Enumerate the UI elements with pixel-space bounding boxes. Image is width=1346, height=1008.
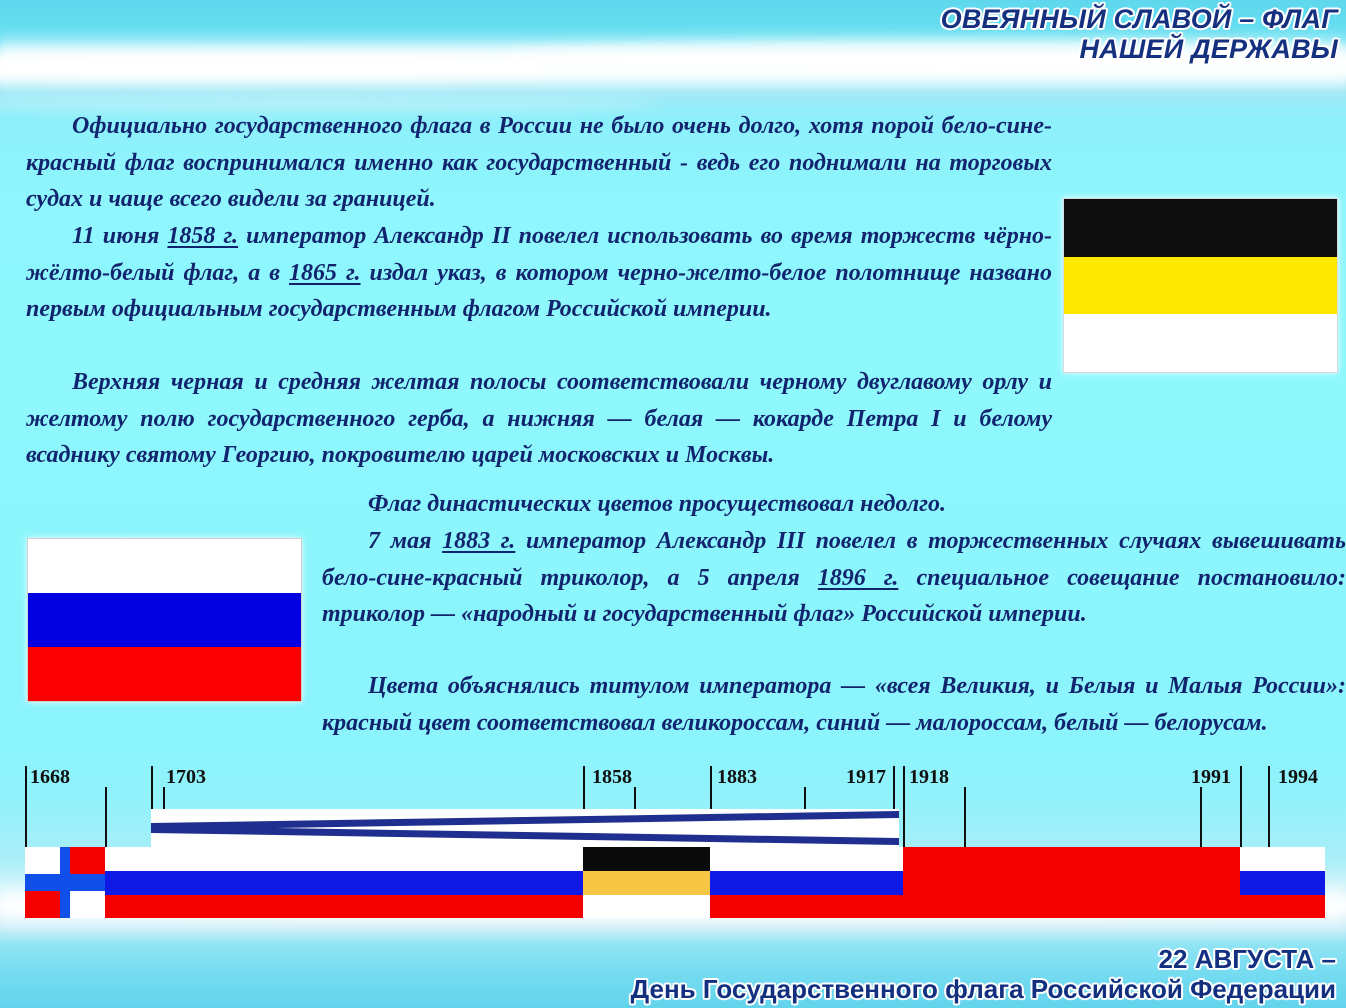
cloud-wisp xyxy=(0,54,560,80)
title-line-2: НАШЕЙ ДЕРЖАВЫ xyxy=(698,34,1338,64)
paragraph-6: Цвета объяснялись титулом императора — «… xyxy=(322,668,1346,741)
year-1883: 1883 г. xyxy=(442,528,515,554)
segment-1883-tricolor xyxy=(710,847,903,918)
st-andrews-ensign-band xyxy=(151,809,899,847)
title-line-1: ОВЕЯННЫЙ СЛАВОЙ – ФЛАГ xyxy=(698,4,1338,34)
tricolor-stripe-red xyxy=(28,647,301,701)
tricolor-flag-image xyxy=(27,538,302,702)
tricolor-stripe-white xyxy=(28,539,301,593)
footer-line-2: День Государственного флага Российской Ф… xyxy=(436,974,1336,1004)
p2-text-a: 11 июня xyxy=(72,223,167,249)
segment-1858-imperial xyxy=(583,847,710,918)
imperial-flag-image xyxy=(1063,198,1338,373)
segment-1991-tricolor xyxy=(1240,847,1325,918)
p5-text-a: 7 мая xyxy=(368,528,442,554)
imperial-stripe-white xyxy=(1064,314,1337,372)
year-1896: 1896 г. xyxy=(818,565,899,591)
footer-line-1: 22 АВГУСТА – xyxy=(436,944,1336,974)
title-banner: ОВЕЯННЫЙ СЛАВОЙ – ФЛАГ НАШЕЙ ДЕРЖАВЫ xyxy=(698,4,1338,64)
segment-1668-cross-flag xyxy=(25,847,105,918)
year-1865: 1865 г. xyxy=(289,260,361,286)
imperial-stripe-yellow xyxy=(1064,257,1337,315)
paragraph-2: 11 июня 1858 г. император Александр II п… xyxy=(26,218,1052,328)
footer-banner: 22 АВГУСТА – День Государственного флага… xyxy=(436,944,1336,1004)
paragraph-3: Верхняя черная и средняя желтая полосы с… xyxy=(26,364,1052,474)
paragraph-5: 7 мая 1883 г. император Александр III по… xyxy=(322,523,1346,633)
paragraph-4: Флаг династических цветов просуществовал… xyxy=(322,486,1346,523)
year-1858: 1858 г. xyxy=(167,223,238,249)
segment-1693-tricolor xyxy=(105,847,583,918)
segment-1918-soviet-red xyxy=(903,847,1240,918)
tricolor-stripe-blue xyxy=(28,593,301,647)
paragraph-1: Официально государственного флага в Росс… xyxy=(26,108,1052,218)
st-andrews-cross-icon xyxy=(151,809,899,847)
timeline-flag-segments xyxy=(25,847,1325,918)
flag-history-timeline: 16681703185818831917191819911994 1693170… xyxy=(0,765,1346,915)
imperial-stripe-black xyxy=(1064,199,1337,257)
timeline-bands xyxy=(0,789,1346,895)
